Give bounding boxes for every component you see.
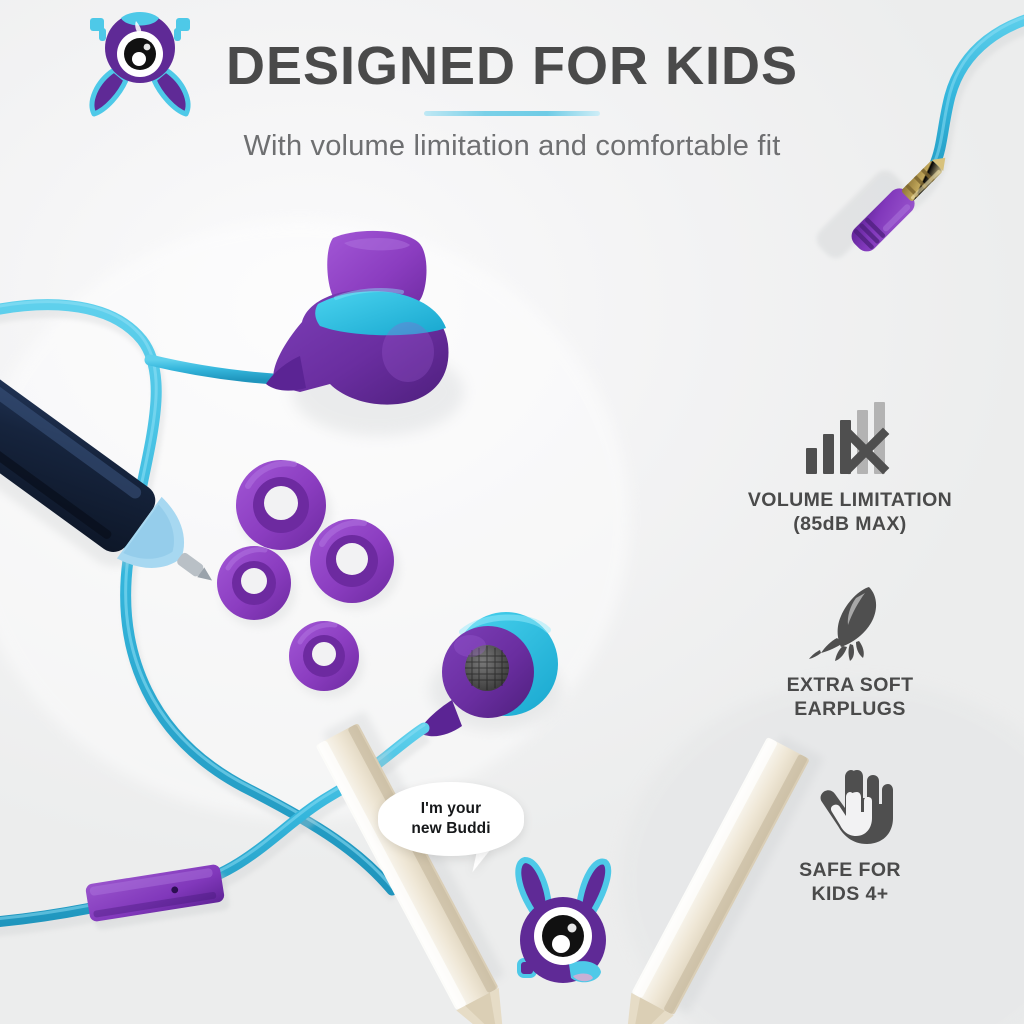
feature-label: VOLUME LIMITATION (85dB MAX) bbox=[700, 488, 1000, 537]
feature-safe-for-kids: SAFE FOR KIDS 4+ bbox=[700, 768, 1000, 907]
speech-bubble-line2: new Buddi bbox=[411, 819, 490, 839]
header: DESIGNED FOR KIDS With volume limitation… bbox=[0, 38, 1024, 163]
feature-label-line2: (85dB MAX) bbox=[700, 512, 1000, 536]
feature-label-line1: EXTRA SOFT bbox=[787, 674, 914, 696]
accent-divider bbox=[424, 111, 600, 116]
hands-icon bbox=[700, 768, 1000, 846]
speech-bubble-text: I'm your new Buddi bbox=[411, 799, 490, 839]
feature-label-line1: VOLUME LIMITATION bbox=[748, 489, 952, 511]
product-feature-image: DESIGNED FOR KIDS With volume limitation… bbox=[0, 0, 1024, 1024]
feature-volume-limitation: VOLUME LIMITATION (85dB MAX) bbox=[700, 398, 1000, 537]
page-subtitle: With volume limitation and comfortable f… bbox=[0, 130, 1024, 163]
mascot-buddi-bottom bbox=[518, 860, 608, 983]
feature-label: SAFE FOR KIDS 4+ bbox=[700, 858, 1000, 907]
speech-bubble-line1: I'm your bbox=[421, 800, 481, 817]
volume-bars-crossed-icon bbox=[700, 398, 1000, 476]
feature-label-line1: SAFE FOR bbox=[799, 859, 901, 881]
feather-icon bbox=[700, 583, 1000, 661]
speech-bubble: I'm your new Buddi bbox=[378, 782, 524, 856]
inline-mic-module bbox=[85, 863, 231, 931]
feature-list: VOLUME LIMITATION (85dB MAX) bbox=[700, 398, 1000, 952]
feature-extra-soft-earplugs: EXTRA SOFT EARPLUGS bbox=[700, 583, 1000, 722]
feature-label-line2: EARPLUGS bbox=[700, 697, 1000, 721]
feature-label-line2: KIDS 4+ bbox=[700, 882, 1000, 906]
feature-label: EXTRA SOFT EARPLUGS bbox=[700, 673, 1000, 722]
page-title: DESIGNED FOR KIDS bbox=[0, 38, 1024, 95]
